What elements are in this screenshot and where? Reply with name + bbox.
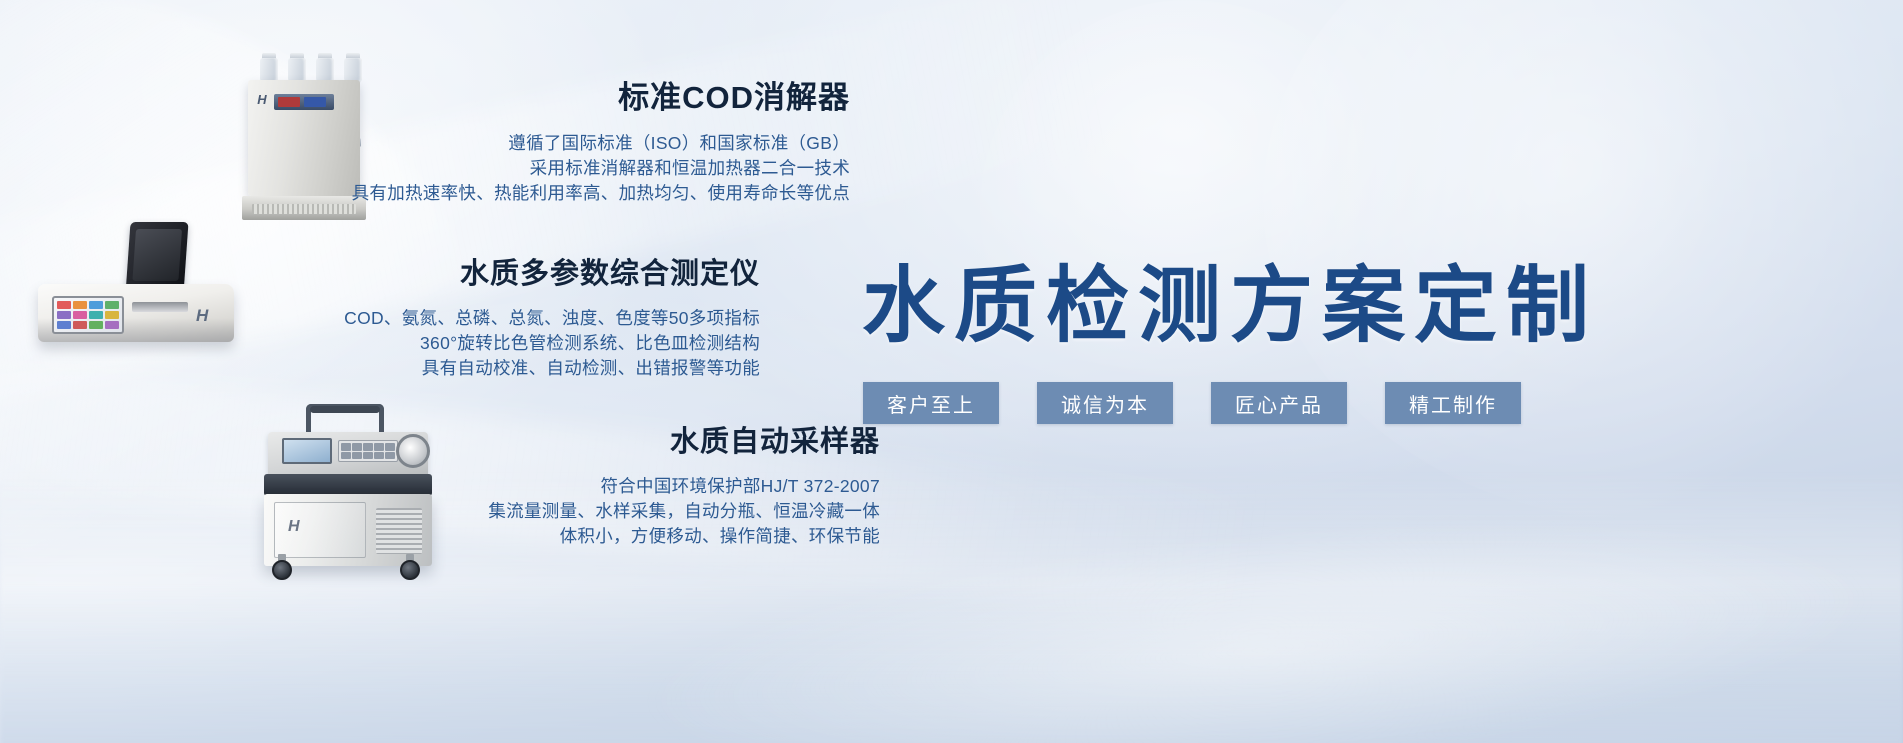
product-feature-line: 具有加热速率快、热能利用率高、加热均匀、使用寿命长等优点 [352, 181, 850, 206]
product-feature-line: 符合中国环境保护部HJ/T 372-2007 [488, 474, 880, 499]
temperature-display [278, 97, 300, 107]
vent-grille-icon [376, 508, 422, 554]
slogan-badge-craftsmanship[interactable]: 匠心产品 [1211, 382, 1347, 424]
analyzer-lid-inner [132, 229, 182, 281]
sampler-handle-bar [310, 406, 380, 413]
slogan-badge-fine-workmanship[interactable]: 精工制作 [1385, 382, 1521, 424]
banner-headline: 水质检测方案定制 [862, 238, 1598, 358]
product-description: 遵循了国际标准（ISO）和国家标准（GB） 采用标准消解器和恒温加热器二合一技术… [352, 131, 850, 206]
product-title: 水质多参数综合测定仪 [344, 250, 760, 292]
brand-logo-icon: H [255, 92, 269, 108]
product-feature-line: 体积小，方便移动、操作简捷、环保节能 [488, 524, 880, 549]
peristaltic-pump-icon [396, 434, 430, 468]
product-feature-line: 集流量测量、水样采集，自动分瓶、恒温冷藏一体 [488, 499, 880, 524]
analyzer-touchscreen [52, 296, 124, 334]
product-block-multiparameter-analyzer: 水质多参数综合测定仪 COD、氨氮、总磷、总氮、浊度、色度等50多项指标 360… [344, 250, 760, 381]
product-feature-line: 具有自动校准、自动检测、出错报警等功能 [344, 356, 760, 381]
vent-grille-icon [252, 204, 356, 214]
product-description: COD、氨氮、总磷、总氮、浊度、色度等50多项指标 360°旋转比色管检测系统、… [344, 306, 760, 381]
caster-wheel-icon [272, 560, 292, 580]
auto-water-sampler-photo: H [250, 404, 450, 582]
slogan-badge-integrity[interactable]: 诚信为本 [1037, 382, 1173, 424]
multiparameter-analyzer-photo: H [20, 222, 250, 352]
brand-logo-icon: H [288, 518, 300, 536]
product-block-auto-water-sampler: 水质自动采样器 符合中国环境保护部HJ/T 372-2007 集流量测量、水样采… [488, 418, 880, 549]
cuvette-slot [132, 302, 188, 312]
brand-logo-icon: H [196, 306, 208, 326]
sampler-display-panel [282, 438, 332, 464]
product-description: 符合中国环境保护部HJ/T 372-2007 集流量测量、水样采集，自动分瓶、恒… [488, 474, 880, 549]
product-title: 水质自动采样器 [488, 418, 880, 460]
sampler-midsection [264, 474, 432, 496]
product-block-cod-digester: 标准COD消解器 遵循了国际标准（ISO）和国家标准（GB） 采用标准消解器和恒… [352, 72, 850, 206]
slogan-badge-customer-first[interactable]: 客户至上 [863, 382, 999, 424]
product-feature-line: COD、氨氮、总磷、总氮、浊度、色度等50多项指标 [344, 306, 760, 331]
caster-wheel-icon [400, 560, 420, 580]
timer-display [304, 97, 326, 107]
sampler-keypad [338, 440, 398, 462]
product-feature-line: 采用标准消解器和恒温加热器二合一技术 [352, 156, 850, 181]
product-feature-line: 360°旋转比色管检测系统、比色皿检测结构 [344, 331, 760, 356]
slogan-badge-group: 客户至上 诚信为本 匠心产品 精工制作 [863, 382, 1521, 424]
product-title: 标准COD消解器 [352, 72, 850, 117]
product-feature-line: 遵循了国际标准（ISO）和国家标准（GB） [352, 131, 850, 156]
water-quality-banner: H 标准COD消解器 遵循了国际标准（ISO）和国家标准（GB） 采用标准消解器… [0, 0, 1903, 743]
